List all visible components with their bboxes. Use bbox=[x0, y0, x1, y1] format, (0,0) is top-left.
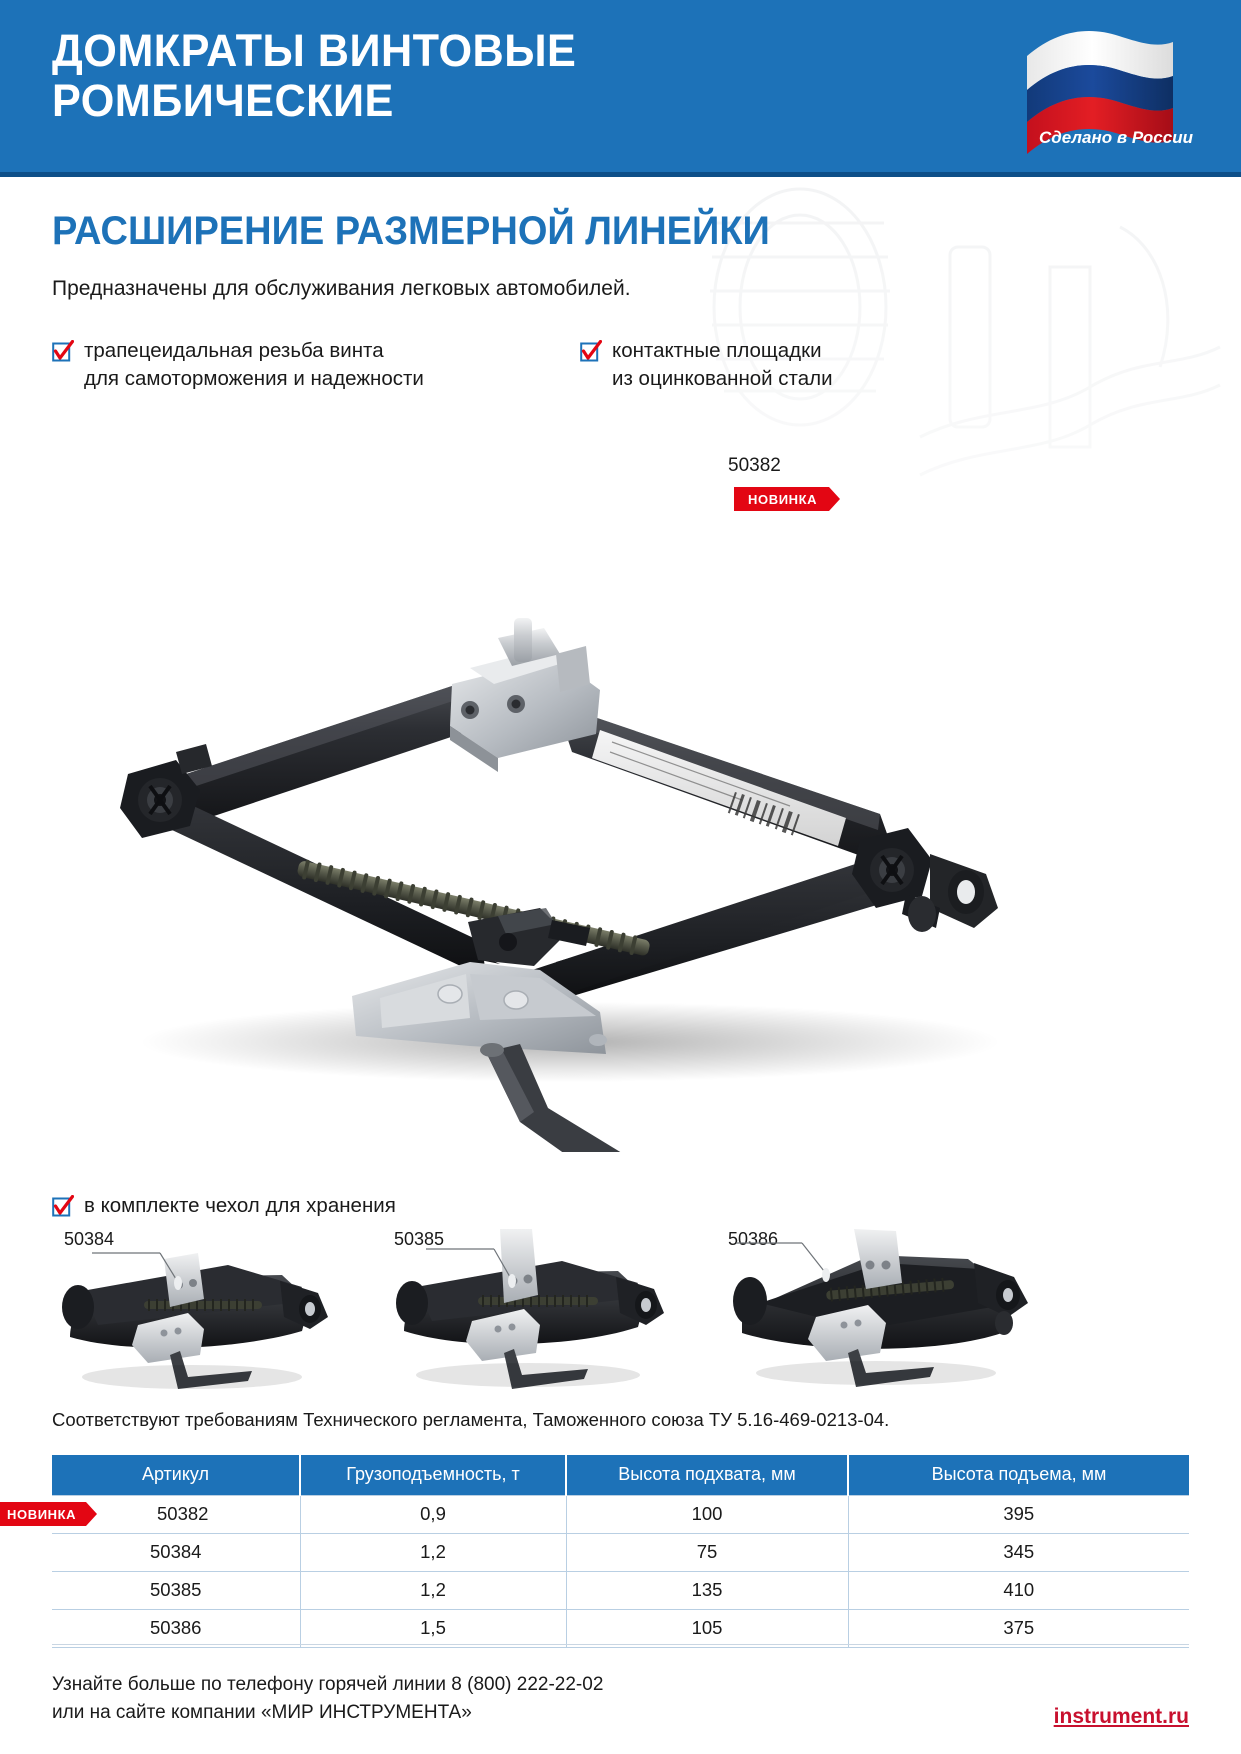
cell-article-value: 50382 bbox=[157, 1503, 208, 1524]
feature-bullet: контактные площадки из оцинкованной стал… bbox=[580, 337, 833, 392]
cell-min-height: 105 bbox=[566, 1609, 848, 1647]
checkmark-icon bbox=[580, 340, 602, 364]
specifications-table: Артикул Грузоподъемность, т Высота подхв… bbox=[52, 1455, 1189, 1648]
table-header-row: Артикул Грузоподъемность, т Высота подхв… bbox=[52, 1455, 1189, 1495]
cell-max-height: 345 bbox=[848, 1533, 1189, 1571]
cell-capacity: 1,2 bbox=[300, 1571, 566, 1609]
page-header: ДОМКРАТЫ ВИНТОВЫЕ РОМБИЧЕСКИЕ bbox=[0, 0, 1241, 172]
page-title: ДОМКРАТЫ ВИНТОВЫЕ РОМБИЧЕСКИЕ bbox=[52, 26, 820, 127]
hero-product-callout: 50382 bbox=[728, 455, 781, 477]
column-header-article: Артикул bbox=[52, 1455, 300, 1495]
product-thumbnail: 50386 bbox=[716, 1229, 1046, 1399]
section-title: РАСШИРЕНИЕ РАЗМЕРНОЙ ЛИНЕЙКИ bbox=[52, 209, 770, 254]
cell-max-height: 395 bbox=[848, 1495, 1189, 1533]
column-header-max-height: Высота подъема, мм bbox=[848, 1455, 1189, 1495]
table-row: 50385 1,2 135 410 bbox=[52, 1571, 1189, 1609]
lead-paragraph: Предназначены для обслуживания легковых … bbox=[52, 277, 631, 301]
table-row: 50386 1,5 105 375 bbox=[52, 1609, 1189, 1647]
cell-capacity: 1,5 bbox=[300, 1609, 566, 1647]
case-included-label: в комплекте чехол для хранения bbox=[84, 1192, 396, 1220]
cell-article: 50385 bbox=[52, 1571, 300, 1609]
company-website-link[interactable]: instrument.ru bbox=[1054, 1705, 1189, 1729]
cell-max-height: 375 bbox=[848, 1609, 1189, 1647]
feature-bullet: трапецеидальная резьба винта для самотор… bbox=[52, 337, 424, 392]
made-in-russia-caption: Сделано в России bbox=[1039, 128, 1193, 148]
cell-min-height: 100 bbox=[566, 1495, 848, 1533]
page-body: РАСШИРЕНИЕ РАЗМЕРНОЙ ЛИНЕЙКИ Предназначе… bbox=[0, 177, 1241, 1754]
product-thumbnail-row: 50384 bbox=[0, 1229, 1241, 1399]
cell-capacity: 0,9 bbox=[300, 1495, 566, 1533]
checkmark-icon bbox=[52, 1195, 74, 1219]
checkmark-icon bbox=[52, 340, 74, 364]
cell-article: 50384 bbox=[52, 1533, 300, 1571]
hero-product-image bbox=[0, 422, 1241, 1152]
footer-contact-text: Узнайте больше по телефону горячей линии… bbox=[52, 1671, 603, 1726]
cell-article: 50386 bbox=[52, 1609, 300, 1647]
column-header-capacity: Грузоподъемность, т bbox=[300, 1455, 566, 1495]
poster-page: ДОМКРАТЫ ВИНТОВЫЕ РОМБИЧЕСКИЕ bbox=[0, 0, 1241, 1754]
table-row: НОВИНКА 50382 0,9 100 395 bbox=[52, 1495, 1189, 1533]
footer-divider bbox=[52, 1644, 1189, 1645]
cell-capacity: 1,2 bbox=[300, 1533, 566, 1571]
feature-bullet-label: трапецеидальная резьба винта для самотор… bbox=[84, 337, 424, 392]
cell-min-height: 75 bbox=[566, 1533, 848, 1571]
case-included-bullet: в комплекте чехол для хранения bbox=[52, 1192, 396, 1220]
cell-min-height: 135 bbox=[566, 1571, 848, 1609]
feature-bullet-label: контактные площадки из оцинкованной стал… bbox=[612, 337, 833, 392]
novinka-badge: НОВИНКА bbox=[0, 1502, 86, 1526]
product-thumbnail: 50385 bbox=[382, 1229, 712, 1399]
novinka-badge: НОВИНКА bbox=[734, 487, 829, 511]
table-row: 50384 1,2 75 345 bbox=[52, 1533, 1189, 1571]
cell-max-height: 410 bbox=[848, 1571, 1189, 1609]
compliance-note: Соответствуют требованиям Технического р… bbox=[52, 1409, 889, 1431]
cell-article: НОВИНКА 50382 bbox=[52, 1495, 300, 1533]
product-thumbnail: 50384 bbox=[52, 1229, 382, 1399]
column-header-min-height: Высота подхвата, мм bbox=[566, 1455, 848, 1495]
